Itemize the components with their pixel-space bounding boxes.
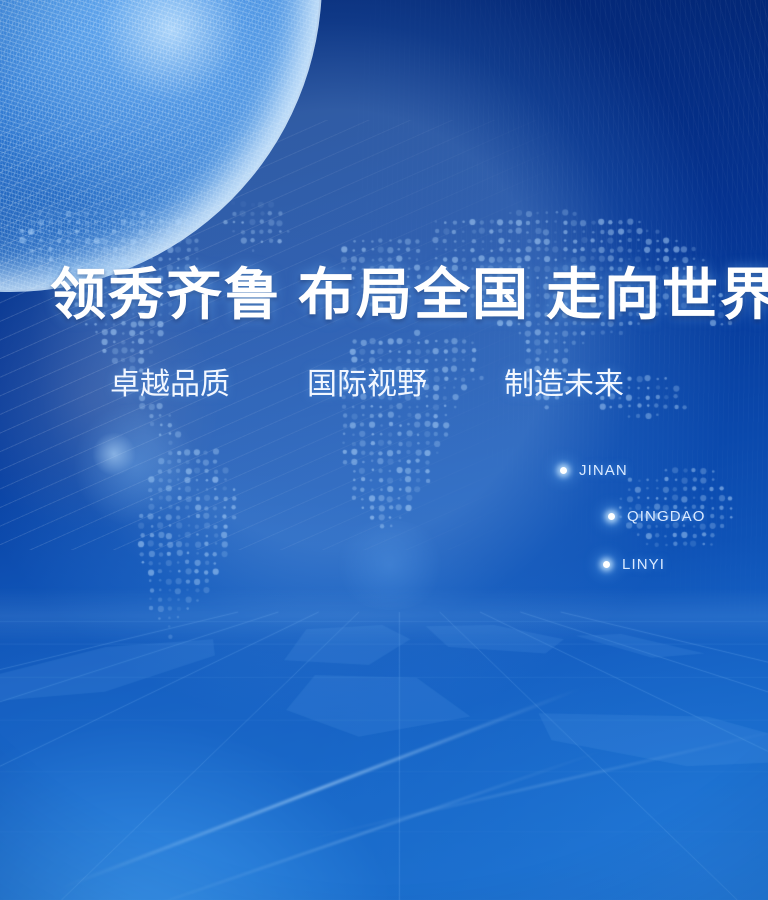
light-streak-two: [119, 747, 611, 900]
city-label: JINAN: [579, 462, 628, 479]
city-dot-marker-icon: [560, 467, 567, 474]
page-title: 领秀齐鲁 布局全国 走向世界: [50, 268, 768, 324]
city-marker-jinan[interactable]: JINAN: [560, 462, 628, 479]
subtitle: 卓越品质 国际视野 制造未来: [110, 370, 624, 400]
subtitle-item-3: 制造未来: [504, 370, 624, 400]
city-label: LINYI: [622, 556, 665, 573]
city-marker-qingdao[interactable]: QINGDAO: [608, 508, 706, 525]
city-label: QINGDAO: [627, 508, 706, 525]
subtitle-item-1: 卓越品质: [110, 370, 230, 400]
city-marker-linyi[interactable]: LINYI: [603, 556, 665, 573]
promo-banner: 领秀齐鲁 布局全国 走向世界 卓越品质 国际视野 制造未来 JINAN QING…: [0, 0, 768, 900]
subtitle-item-2: 国际视野: [307, 370, 427, 400]
city-dot-marker-icon: [603, 561, 610, 568]
light-streak-three: [300, 723, 768, 842]
city-dot-marker-icon: [608, 513, 615, 520]
